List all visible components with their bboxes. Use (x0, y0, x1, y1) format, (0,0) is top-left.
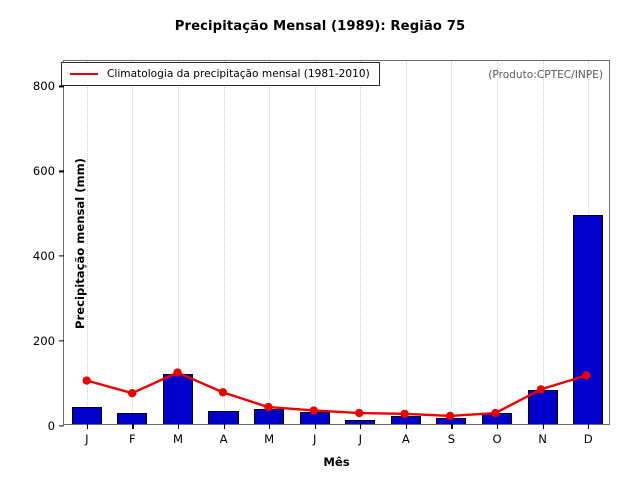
product-annotation: (Produto:CPTEC/INPE) (488, 69, 603, 81)
x-tick-label: A (386, 432, 426, 446)
climatology-marker (310, 406, 318, 414)
y-tick-label: 0 (12, 419, 64, 433)
y-tick-label: 200 (12, 334, 64, 348)
climatology-marker (446, 412, 454, 420)
x-tick-label: F (112, 432, 152, 446)
y-tick-label: 800 (12, 79, 64, 93)
x-axis-label: Mês (64, 455, 609, 469)
x-tick-label: J (295, 432, 335, 446)
x-tick-label: D (568, 432, 608, 446)
x-tick-mark (132, 424, 133, 429)
y-tick-mark (59, 86, 64, 87)
x-tick-label: A (204, 432, 244, 446)
x-tick-label: M (249, 432, 289, 446)
climatology-marker (537, 385, 545, 393)
x-tick-label: M (158, 432, 198, 446)
x-tick-label: S (431, 432, 471, 446)
x-tick-mark (451, 424, 452, 429)
climatology-marker (582, 371, 590, 379)
x-tick-mark (87, 424, 88, 429)
x-tick-mark (497, 424, 498, 429)
x-tick-mark (406, 424, 407, 429)
x-tick-mark (178, 424, 179, 429)
y-tick-label: 600 (12, 164, 64, 178)
x-tick-label: N (523, 432, 563, 446)
climatology-marker (400, 410, 408, 418)
climatology-marker (355, 409, 363, 417)
climatology-marker (83, 376, 91, 384)
climatology-marker (173, 368, 181, 376)
plot-area: 0200400600800 JFMAMJJASOND Precipitação … (63, 60, 610, 425)
climatology-line-svg (64, 61, 609, 424)
x-tick-label: J (67, 432, 107, 446)
x-tick-label: O (477, 432, 517, 446)
climatology-polyline (87, 373, 587, 416)
x-tick-mark (269, 424, 270, 429)
y-tick-mark (59, 425, 64, 426)
climatology-marker (219, 388, 227, 396)
x-tick-mark (315, 424, 316, 429)
x-tick-mark (543, 424, 544, 429)
x-tick-mark (588, 424, 589, 429)
climatology-line-series (64, 61, 609, 424)
legend-line-swatch-icon (70, 73, 98, 75)
climatology-marker (128, 389, 136, 397)
climatology-marker (264, 403, 272, 411)
chart-legend: Climatologia da precipitação mensal (198… (61, 62, 380, 86)
y-tick-mark (59, 341, 64, 342)
chart-figure: Precipitação Mensal (1989): Região 75 02… (0, 0, 640, 500)
y-tick-mark (59, 256, 64, 257)
y-tick-mark (59, 171, 64, 172)
x-tick-label: J (340, 432, 380, 446)
chart-title: Precipitação Mensal (1989): Região 75 (0, 19, 640, 34)
x-tick-mark (360, 424, 361, 429)
climatology-marker (491, 409, 499, 417)
y-tick-label: 400 (12, 249, 64, 263)
legend-label: Climatologia da precipitação mensal (198… (107, 68, 370, 80)
x-tick-mark (224, 424, 225, 429)
